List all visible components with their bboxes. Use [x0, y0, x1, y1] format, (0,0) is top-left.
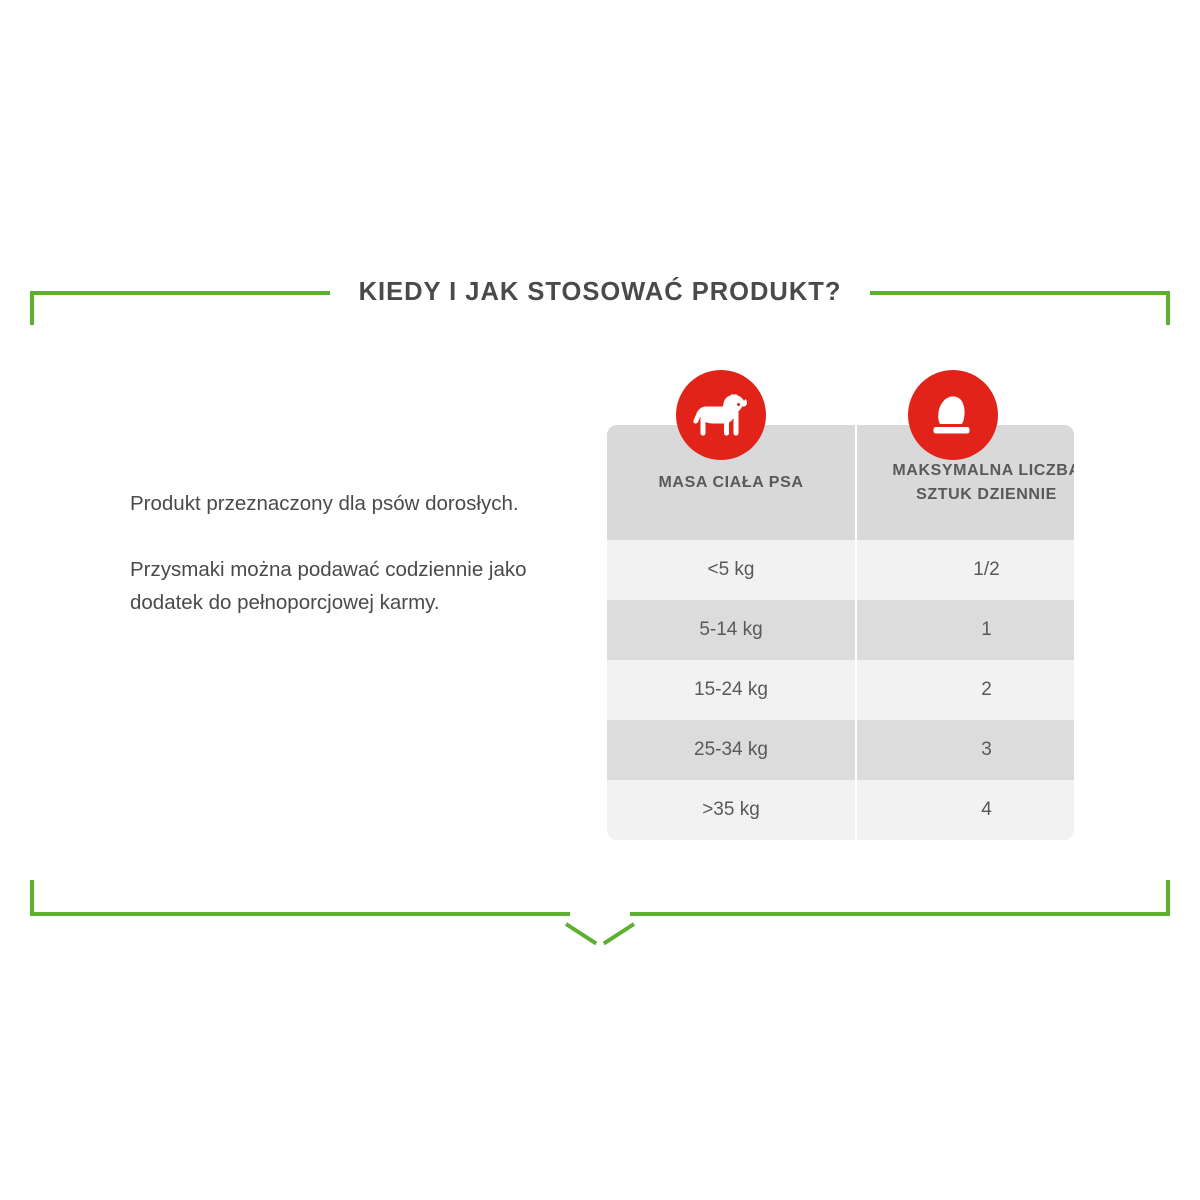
treat-badge: [908, 370, 998, 460]
bracket-segment-right: [870, 291, 1170, 295]
bracket-tick-right: [1166, 291, 1170, 325]
top-bracket: KIEDY I JAK STOSOWAĆ PRODUKT?: [30, 275, 1170, 330]
cell-amount: 2: [856, 660, 1074, 720]
cell-amount: 1: [856, 600, 1074, 660]
bracket-segment-left: [30, 291, 330, 295]
cell-weight: 5-14 kg: [607, 600, 856, 660]
table-row: <5 kg 1/2: [607, 540, 1074, 600]
bottom-bracket-segment-left: [30, 912, 570, 916]
table-row: 5-14 kg 1: [607, 600, 1074, 660]
feeding-table: MASA CIAŁA PSA MAKSYMALNA LICZBA SZTUK D…: [607, 425, 1074, 840]
chevron-down-icon: [570, 912, 630, 944]
dog-icon: [692, 394, 750, 436]
table-row: 15-24 kg 2: [607, 660, 1074, 720]
table-row: 25-34 kg 3: [607, 720, 1074, 780]
cell-weight: 25-34 kg: [607, 720, 856, 780]
bottom-bracket: [30, 880, 1170, 950]
description-paragraph-1: Produkt przeznaczony dla psów dorosłych.: [130, 487, 530, 520]
cell-amount: 4: [856, 780, 1074, 840]
cell-weight: 15-24 kg: [607, 660, 856, 720]
bracket-tick-left: [30, 291, 34, 325]
page-root: KIEDY I JAK STOSOWAĆ PRODUKT? Produkt pr…: [0, 0, 1200, 1200]
bottom-bracket-segment-right: [630, 912, 1170, 916]
description-paragraph-2: Przysmaki można podawać codziennie jako …: [130, 553, 530, 619]
treat-icon: [929, 394, 977, 436]
page-title: KIEDY I JAK STOSOWAĆ PRODUKT?: [330, 275, 870, 309]
bottom-bracket-tick-right: [1166, 880, 1170, 912]
cell-amount: 1/2: [856, 540, 1074, 600]
cell-weight: <5 kg: [607, 540, 856, 600]
table-header-row: MASA CIAŁA PSA MAKSYMALNA LICZBA SZTUK D…: [607, 425, 1074, 540]
cell-weight: >35 kg: [607, 780, 856, 840]
description-block: Produkt przeznaczony dla psów dorosłych.…: [130, 487, 530, 619]
dog-badge: [676, 370, 766, 460]
cell-amount: 3: [856, 720, 1074, 780]
table-row: >35 kg 4: [607, 780, 1074, 840]
bottom-bracket-tick-left: [30, 880, 34, 912]
